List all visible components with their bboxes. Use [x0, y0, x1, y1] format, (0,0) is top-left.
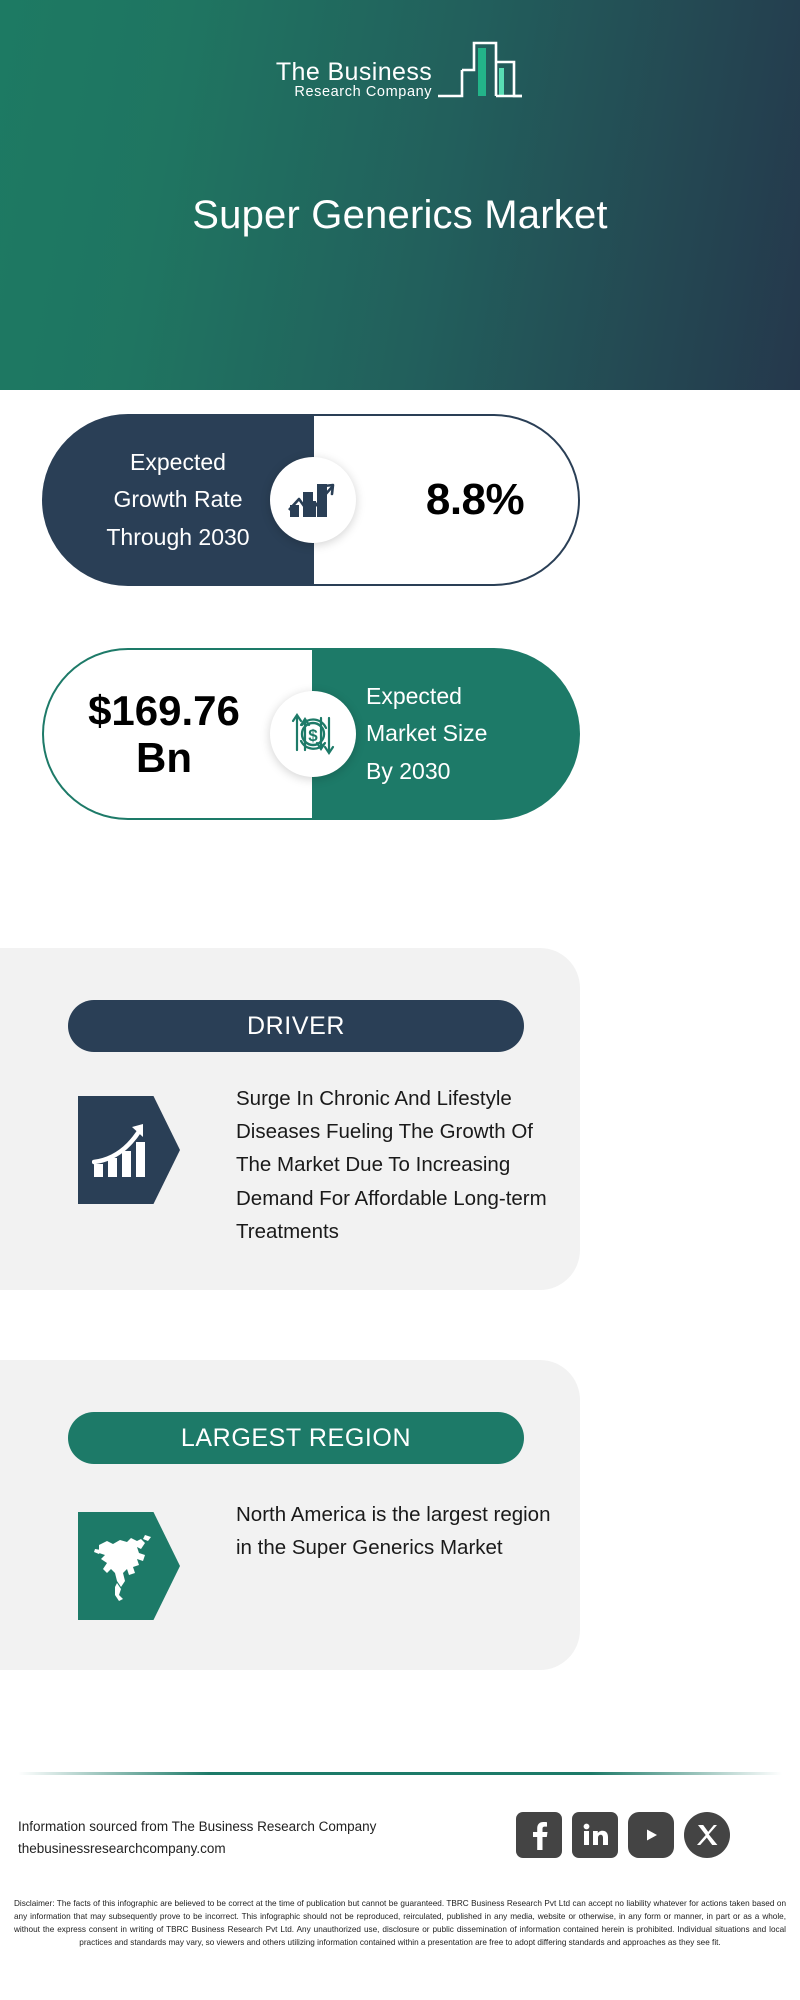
stat-card-market-size: $169.76 Bn Expected Market Size By 2030 [42, 648, 580, 820]
header-banner: The Business Research Company [0, 0, 800, 390]
disclaimer-text: Disclaimer: The facts of this infographi… [14, 1898, 786, 1950]
growth-rate-value: 8.8% [366, 475, 524, 525]
stat-card-growth-rate: 8.8% Expected Growth Rate Through 2030 [42, 414, 580, 586]
footer-source-line-2[interactable]: thebusinessresearchcompany.com [18, 1838, 376, 1860]
social-links [516, 1812, 730, 1858]
linkedin-icon[interactable] [572, 1812, 618, 1858]
market-size-label-line-2: Market Size [366, 715, 580, 752]
growth-rate-label-line-2: Growth Rate [113, 481, 242, 518]
market-size-label-line-1: Expected [366, 678, 580, 715]
market-size-label-line-3: By 2030 [366, 753, 580, 790]
largest-region-text: North America is the largest region in t… [236, 1498, 566, 1564]
dollar-circular-arrows-icon: $ [270, 691, 356, 777]
driver-text: Surge In Chronic And Lifestyle Diseases … [236, 1082, 566, 1248]
footer-divider [18, 1772, 782, 1775]
footer-source: Information sourced from The Business Re… [18, 1816, 376, 1861]
growth-chart-arrow-icon [270, 457, 356, 543]
largest-region-pill-label: LARGEST REGION [181, 1424, 411, 1453]
x-twitter-icon[interactable] [684, 1812, 730, 1858]
infographic-page: The Business Research Company [0, 0, 800, 2000]
youtube-icon[interactable] [628, 1812, 674, 1858]
svg-text:$: $ [308, 726, 318, 745]
market-size-value-line-1: $169.76 [88, 687, 240, 734]
growth-rate-label-line-3: Through 2030 [106, 519, 249, 556]
market-size-value-line-2: Bn [88, 734, 240, 781]
driver-pill-label: DRIVER [247, 1012, 345, 1041]
footer-source-line-1: Information sourced from The Business Re… [18, 1816, 376, 1838]
growth-rate-label-line-1: Expected [130, 444, 226, 481]
facebook-icon[interactable] [516, 1812, 562, 1858]
largest-region-pill: LARGEST REGION [68, 1412, 524, 1464]
page-title-text: Super Generics Market [192, 193, 607, 238]
driver-pill: DRIVER [68, 1000, 524, 1052]
page-title: Super Generics Market [0, 0, 800, 390]
